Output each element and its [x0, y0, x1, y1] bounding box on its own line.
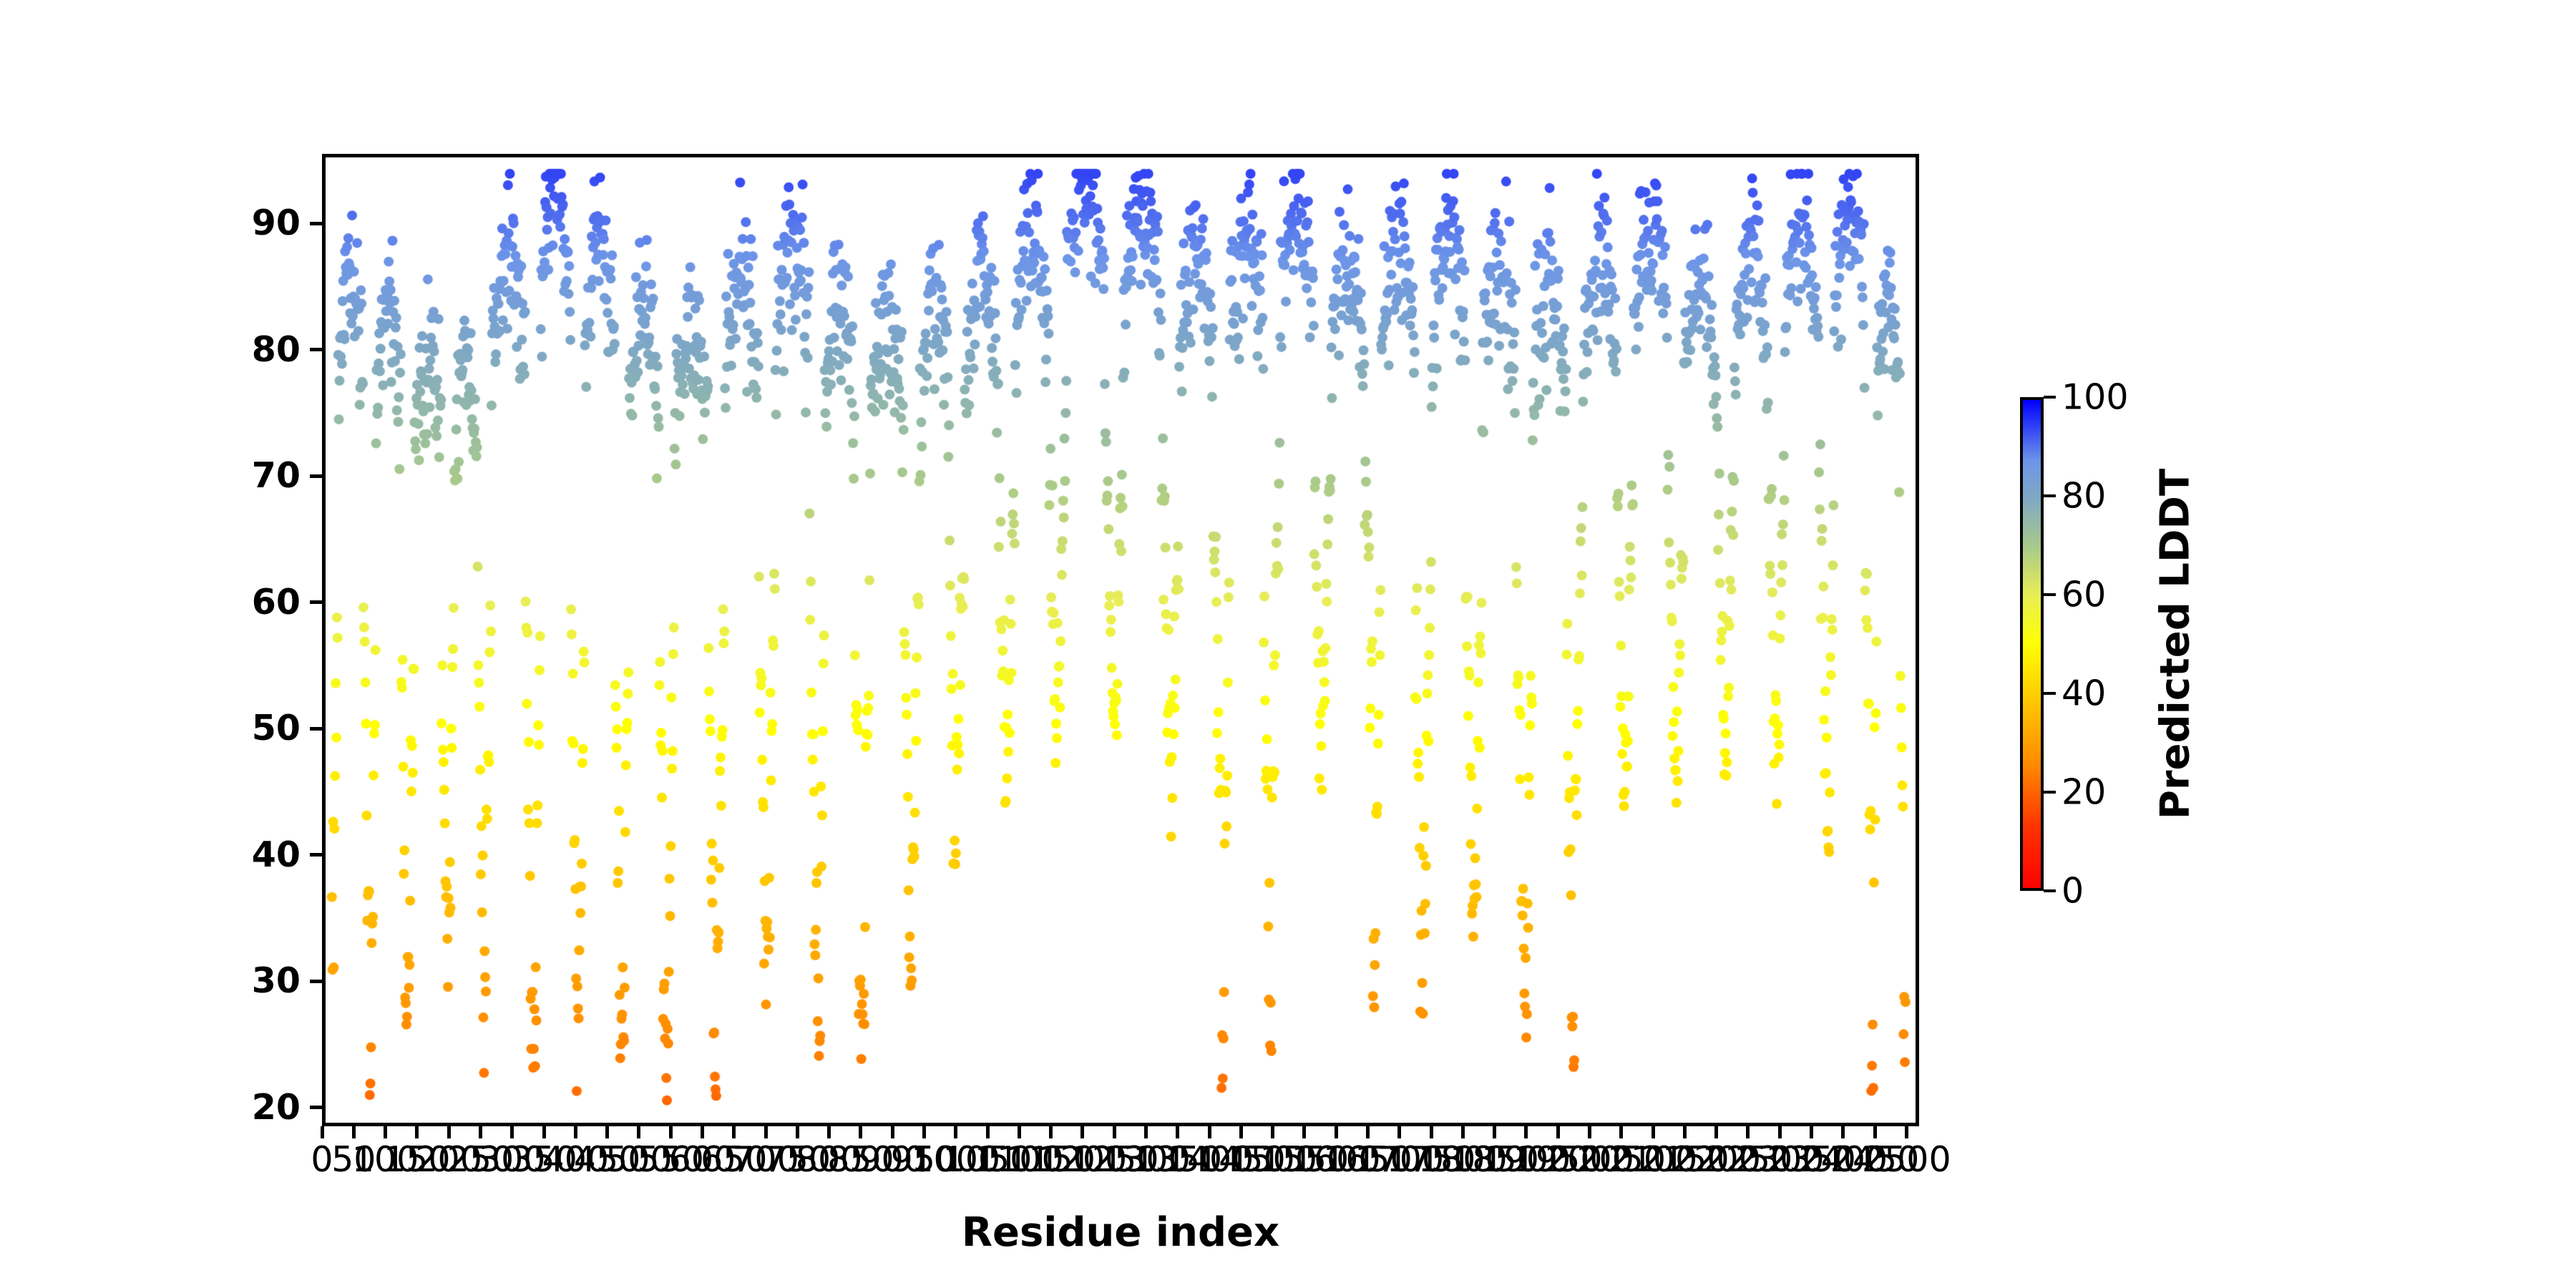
colorbar-tick-label: 0: [2062, 874, 2084, 909]
x-tick-mark: [1208, 1126, 1211, 1138]
colorbar-tick-mark: [2044, 593, 2056, 596]
x-tick-label: 0: [311, 1142, 333, 1177]
colorbar-tick-label: 20: [2062, 775, 2106, 810]
x-tick-mark: [1144, 1126, 1148, 1138]
x-tick-mark: [637, 1126, 640, 1138]
x-tick-mark: [954, 1126, 957, 1138]
colorbar-tick-label: 80: [2062, 479, 2106, 514]
colorbar-label: Predicted LDDT: [2152, 469, 2199, 819]
y-tick-label: 30: [208, 963, 301, 998]
x-tick-mark: [701, 1126, 704, 1138]
x-tick-mark: [1302, 1126, 1306, 1138]
colorbar-tick-mark: [2044, 396, 2056, 399]
x-tick-mark: [1524, 1126, 1528, 1138]
y-tick-label: 70: [208, 458, 301, 493]
y-tick-label: 90: [208, 205, 301, 240]
x-tick-mark: [605, 1126, 609, 1138]
figure-canvas: 2030405060708090 Predicted LDDT 05010015…: [0, 0, 2576, 1288]
x-tick-mark: [1746, 1126, 1750, 1138]
x-tick-mark: [1778, 1126, 1782, 1138]
scatter-points-layer: [326, 157, 1916, 1123]
colorbar-tick-label: 60: [2062, 577, 2106, 613]
x-tick-mark: [352, 1126, 356, 1138]
y-tick-mark: [310, 474, 322, 478]
x-tick-mark: [827, 1126, 831, 1138]
x-tick-mark: [574, 1126, 577, 1138]
y-tick-label: 80: [208, 332, 301, 367]
x-tick-mark: [986, 1126, 990, 1138]
x-tick-mark: [1080, 1126, 1084, 1138]
y-tick-mark: [310, 600, 322, 604]
x-tick-mark: [1430, 1126, 1433, 1138]
y-tick-label: 40: [208, 837, 301, 872]
colorbar-tick-mark: [2044, 494, 2056, 497]
y-tick-label: 50: [208, 711, 301, 746]
x-tick-mark: [384, 1126, 387, 1138]
x-tick-mark: [1810, 1126, 1813, 1138]
colorbar-tick-label: 100: [2062, 380, 2129, 415]
x-tick-mark: [1271, 1126, 1274, 1138]
y-tick-mark: [310, 853, 322, 857]
x-tick-mark: [669, 1126, 673, 1138]
x-tick-mark: [1556, 1126, 1560, 1138]
x-tick-mark: [321, 1126, 324, 1138]
x-tick-mark: [764, 1126, 768, 1138]
colorbar: 020406080100: [2020, 397, 2044, 891]
colorbar-tick-mark: [2044, 889, 2056, 892]
x-tick-mark: [1461, 1126, 1465, 1138]
y-tick-mark: [310, 222, 322, 225]
x-axis-label: Residue index: [962, 1209, 1279, 1256]
x-tick-mark: [859, 1126, 862, 1138]
x-tick-mark: [1113, 1126, 1116, 1138]
x-tick-mark: [542, 1126, 546, 1138]
y-tick-label: 20: [208, 1090, 301, 1125]
x-tick-mark: [922, 1126, 926, 1138]
x-tick-mark: [1018, 1126, 1021, 1138]
x-tick-mark: [1841, 1126, 1845, 1138]
x-tick-label: 2500: [1862, 1142, 1951, 1177]
y-tick-mark: [310, 348, 322, 351]
x-tick-mark: [1335, 1126, 1338, 1138]
x-tick-mark: [1683, 1126, 1687, 1138]
x-tick-mark: [1493, 1126, 1496, 1138]
x-tick-mark: [1176, 1126, 1179, 1138]
colorbar-gradient: [2020, 397, 2044, 891]
colorbar-tick-label: 40: [2062, 676, 2106, 711]
x-tick-mark: [1619, 1126, 1623, 1138]
y-tick-mark: [310, 1106, 322, 1109]
x-tick-mark: [1049, 1126, 1053, 1138]
x-tick-mark: [1397, 1126, 1401, 1138]
y-tick-mark: [310, 727, 322, 731]
x-tick-mark: [1239, 1126, 1243, 1138]
colorbar-tick-mark: [2044, 692, 2056, 695]
x-tick-mark: [447, 1126, 451, 1138]
x-tick-mark: [1366, 1126, 1370, 1138]
x-tick-mark: [796, 1126, 799, 1138]
x-tick-mark: [1588, 1126, 1591, 1138]
x-tick-mark: [1652, 1126, 1655, 1138]
x-tick-mark: [1873, 1126, 1877, 1138]
x-tick-mark: [1714, 1126, 1718, 1138]
x-tick-mark: [891, 1126, 894, 1138]
x-tick-mark: [415, 1126, 419, 1138]
x-tick-mark: [510, 1126, 514, 1138]
y-tick-label: 60: [208, 585, 301, 620]
x-tick-mark: [732, 1126, 736, 1138]
scatter-plot-axes: [322, 154, 1919, 1126]
y-tick-mark: [310, 980, 322, 983]
colorbar-tick-mark: [2044, 791, 2056, 794]
x-tick-mark: [479, 1126, 482, 1138]
x-tick-mark: [1905, 1126, 1908, 1138]
